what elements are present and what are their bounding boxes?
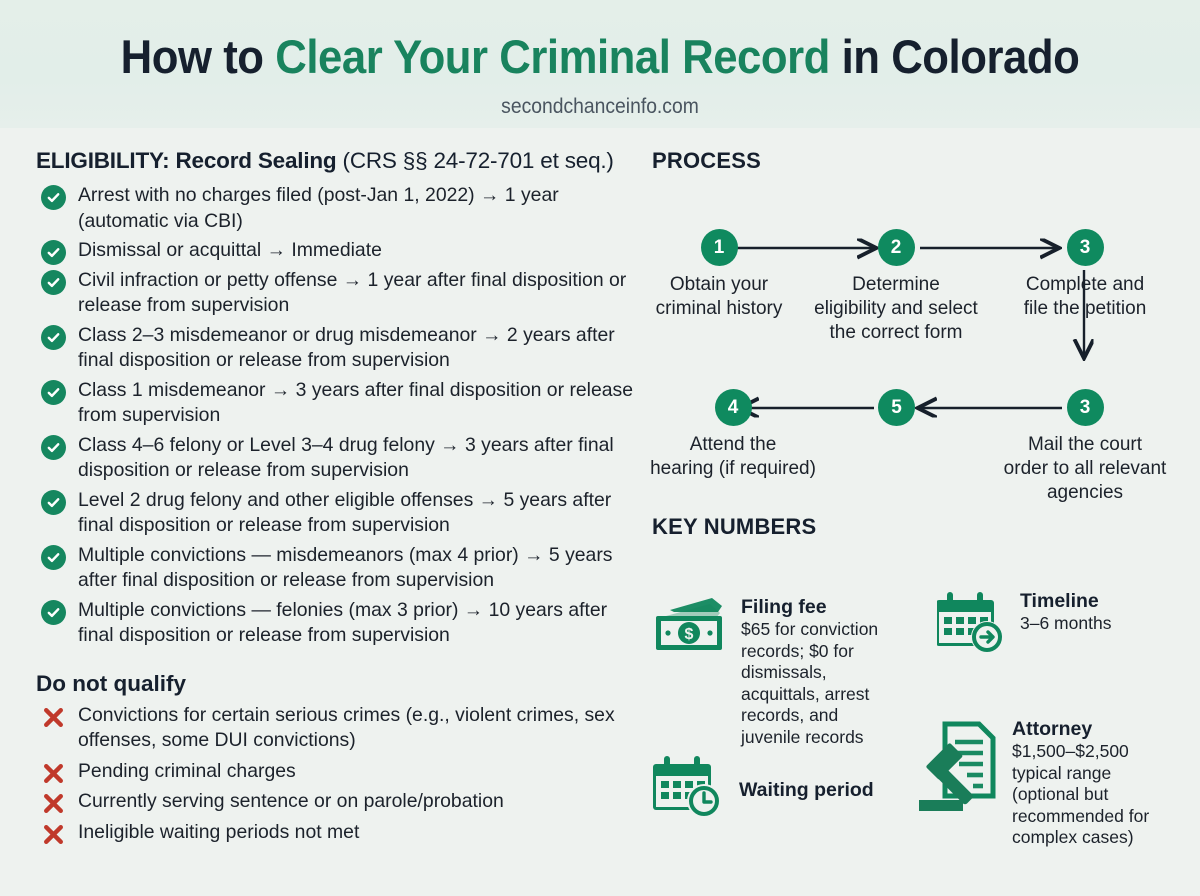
process-step-4-label: Attend the hearing (if required) [639,433,827,481]
eligibility-item: Multiple convictions — felonies (max 3 p… [36,598,636,649]
timeline-title: Timeline [1020,590,1111,612]
key-number-attorney[interactable]: Attorney $1,500–$2,500 typical range (op… [915,718,1172,849]
disqualify-item-text: Convictions for certain serious crimes (… [78,704,615,752]
eligibility-item: Dismissal or acquittal → Immediate [36,238,636,264]
calendar-arrow-icon [937,590,1009,661]
disqualify-item: Currently serving sentence or on parole/… [36,789,636,815]
timeline-detail: 3–6 months [1020,613,1111,635]
eligibility-item-text: Class 2–3 misdemeanor or drug misdemeano… [78,324,615,372]
eligibility-item-text: Class 1 misdemeanor → 3 years after fina… [78,379,633,427]
title-part-1: How to [121,30,276,83]
x-icon [41,822,66,847]
process-step-mail-label: Mail the court order to all relevant age… [1000,433,1170,505]
check-icon [41,435,66,460]
process-step-4-circle: 4 [715,389,752,426]
process-step-2-label: Determine eligibility and select the cor… [805,273,987,345]
process-step-3-label: Complete and file the petition [1000,273,1170,321]
eligibility-item-text: Civil infraction or petty offense → 1 ye… [78,269,626,317]
eligibility-list: Arrest with no charges filed (post-Jan 1… [36,183,636,649]
eligibility-heading: ELIGIBILITY: Record Sealing (CRS §§ 24-7… [36,148,636,174]
attorney-detail: $1,500–$2,500 typical range (optional bu… [1012,741,1172,849]
check-icon [41,380,66,405]
calendar-clock-icon [652,754,728,825]
process-step-mail[interactable]: 3 Mail the court order to all relevant a… [1000,389,1170,505]
eligibility-heading-bold: ELIGIBILITY: Record Sealing [36,148,336,173]
eligibility-item: Multiple convictions — misdemeanors (max… [36,543,636,594]
process-step-5-circle: 5 [878,389,915,426]
process-step-2[interactable]: 2 Determine eligibility and select the c… [805,229,987,345]
key-number-filing-fee-text: Filing fee $65 for conviction records; $… [741,596,902,748]
eligibility-item: Class 1 misdemeanor → 3 years after fina… [36,378,636,429]
eligibility-item-text: Level 2 drug felony and other eligible o… [78,489,611,537]
check-icon [41,270,66,295]
eligibility-item-text: Class 4–6 felony or Level 3–4 drug felon… [78,434,614,482]
left-column: ELIGIBILITY: Record Sealing (CRS §§ 24-7… [36,148,636,850]
process-step-1-circle: 1 [701,229,738,266]
eligibility-item: Level 2 drug felony and other eligible o… [36,488,636,539]
eligibility-item: Arrest with no charges filed (post-Jan 1… [36,183,636,234]
process-step-3-circle: 3 [1067,229,1104,266]
disqualify-item-text: Pending criminal charges [78,760,296,782]
filing-fee-title: Filing fee [741,596,902,618]
eligibility-item-text: Multiple convictions — misdemeanors (max… [78,544,613,592]
eligibility-item: Class 2–3 misdemeanor or drug misdemeano… [36,323,636,374]
key-numbers-grid: $ Filing fee $65 for conviction records;… [652,558,1172,848]
eligibility-heading-citation: (CRS §§ 24-72-701 et seq.) [336,148,613,173]
header-banner: How to Clear Your Criminal Record in Col… [0,0,1200,128]
eligibility-item-text: Arrest with no charges filed (post-Jan 1… [78,184,559,232]
key-numbers-section: KEY NUMBERS $ [652,514,1172,848]
disqualify-item-text: Ineligible waiting periods not met [78,821,359,843]
infographic-page: How to Clear Your Criminal Record in Col… [0,0,1200,896]
disqualify-item: Ineligible waiting periods not met [36,820,636,846]
key-numbers-heading: KEY NUMBERS [652,514,1172,540]
check-icon [41,545,66,570]
key-number-timeline[interactable]: Timeline 3–6 months [937,590,1172,661]
process-step-5[interactable]: 5 [878,389,915,426]
disqualify-item: Convictions for certain serious crimes (… [36,703,636,754]
process-step-mail-circle: 3 [1067,389,1104,426]
attorney-title: Attorney [1012,718,1172,740]
waiting-period-title: Waiting period [739,779,874,801]
disqualify-heading: Do not qualify [36,671,636,697]
money-icon: $ [652,596,730,748]
process-step-1[interactable]: 1 Obtain your criminal history [652,229,786,321]
disqualify-item: Pending criminal charges [36,759,636,785]
x-icon [41,791,66,816]
key-number-attorney-text: Attorney $1,500–$2,500 typical range (op… [1012,718,1172,849]
key-number-waiting-period-text: Waiting period [739,779,874,801]
site-url: secondchanceinfo.com [48,95,1152,119]
process-step-4[interactable]: 4 Attend the hearing (if required) [639,389,827,481]
process-heading: PROCESS [652,148,1172,174]
title-highlight: Clear Your Criminal Record [275,30,830,83]
key-number-waiting-period[interactable]: Waiting period [652,754,902,825]
filing-fee-detail: $65 for conviction records; $0 for dismi… [741,619,902,748]
check-icon [41,600,66,625]
check-icon [41,240,66,265]
eligibility-item-text: Dismissal or acquittal → Immediate [78,239,382,261]
page-title: How to Clear Your Criminal Record in Col… [42,33,1158,80]
svg-text:$: $ [685,626,694,643]
process-flow: 1 Obtain your criminal history 2 Determi… [652,178,1172,508]
process-step-2-circle: 2 [878,229,915,266]
key-number-timeline-text: Timeline 3–6 months [1020,590,1111,661]
x-icon [41,761,66,786]
eligibility-item: Class 4–6 felony or Level 3–4 drug felon… [36,433,636,484]
eligibility-item: Civil infraction or petty offense → 1 ye… [36,268,636,319]
right-column: PROCESS 1 Obtain your criminal history [652,148,1172,848]
disqualify-list: Convictions for certain serious crimes (… [36,703,636,846]
title-part-2: in Colorado [830,30,1079,83]
gavel-document-icon [915,718,1001,849]
key-number-filing-fee[interactable]: $ Filing fee $65 for conviction records;… [652,596,902,748]
x-icon [41,705,66,730]
check-icon [41,490,66,515]
disqualify-item-text: Currently serving sentence or on parole/… [78,790,504,812]
check-icon [41,325,66,350]
check-icon [41,185,66,210]
process-step-1-label: Obtain your criminal history [652,273,786,321]
process-step-3[interactable]: 3 Complete and file the petition [1000,229,1170,321]
eligibility-item-text: Multiple convictions — felonies (max 3 p… [78,599,607,647]
